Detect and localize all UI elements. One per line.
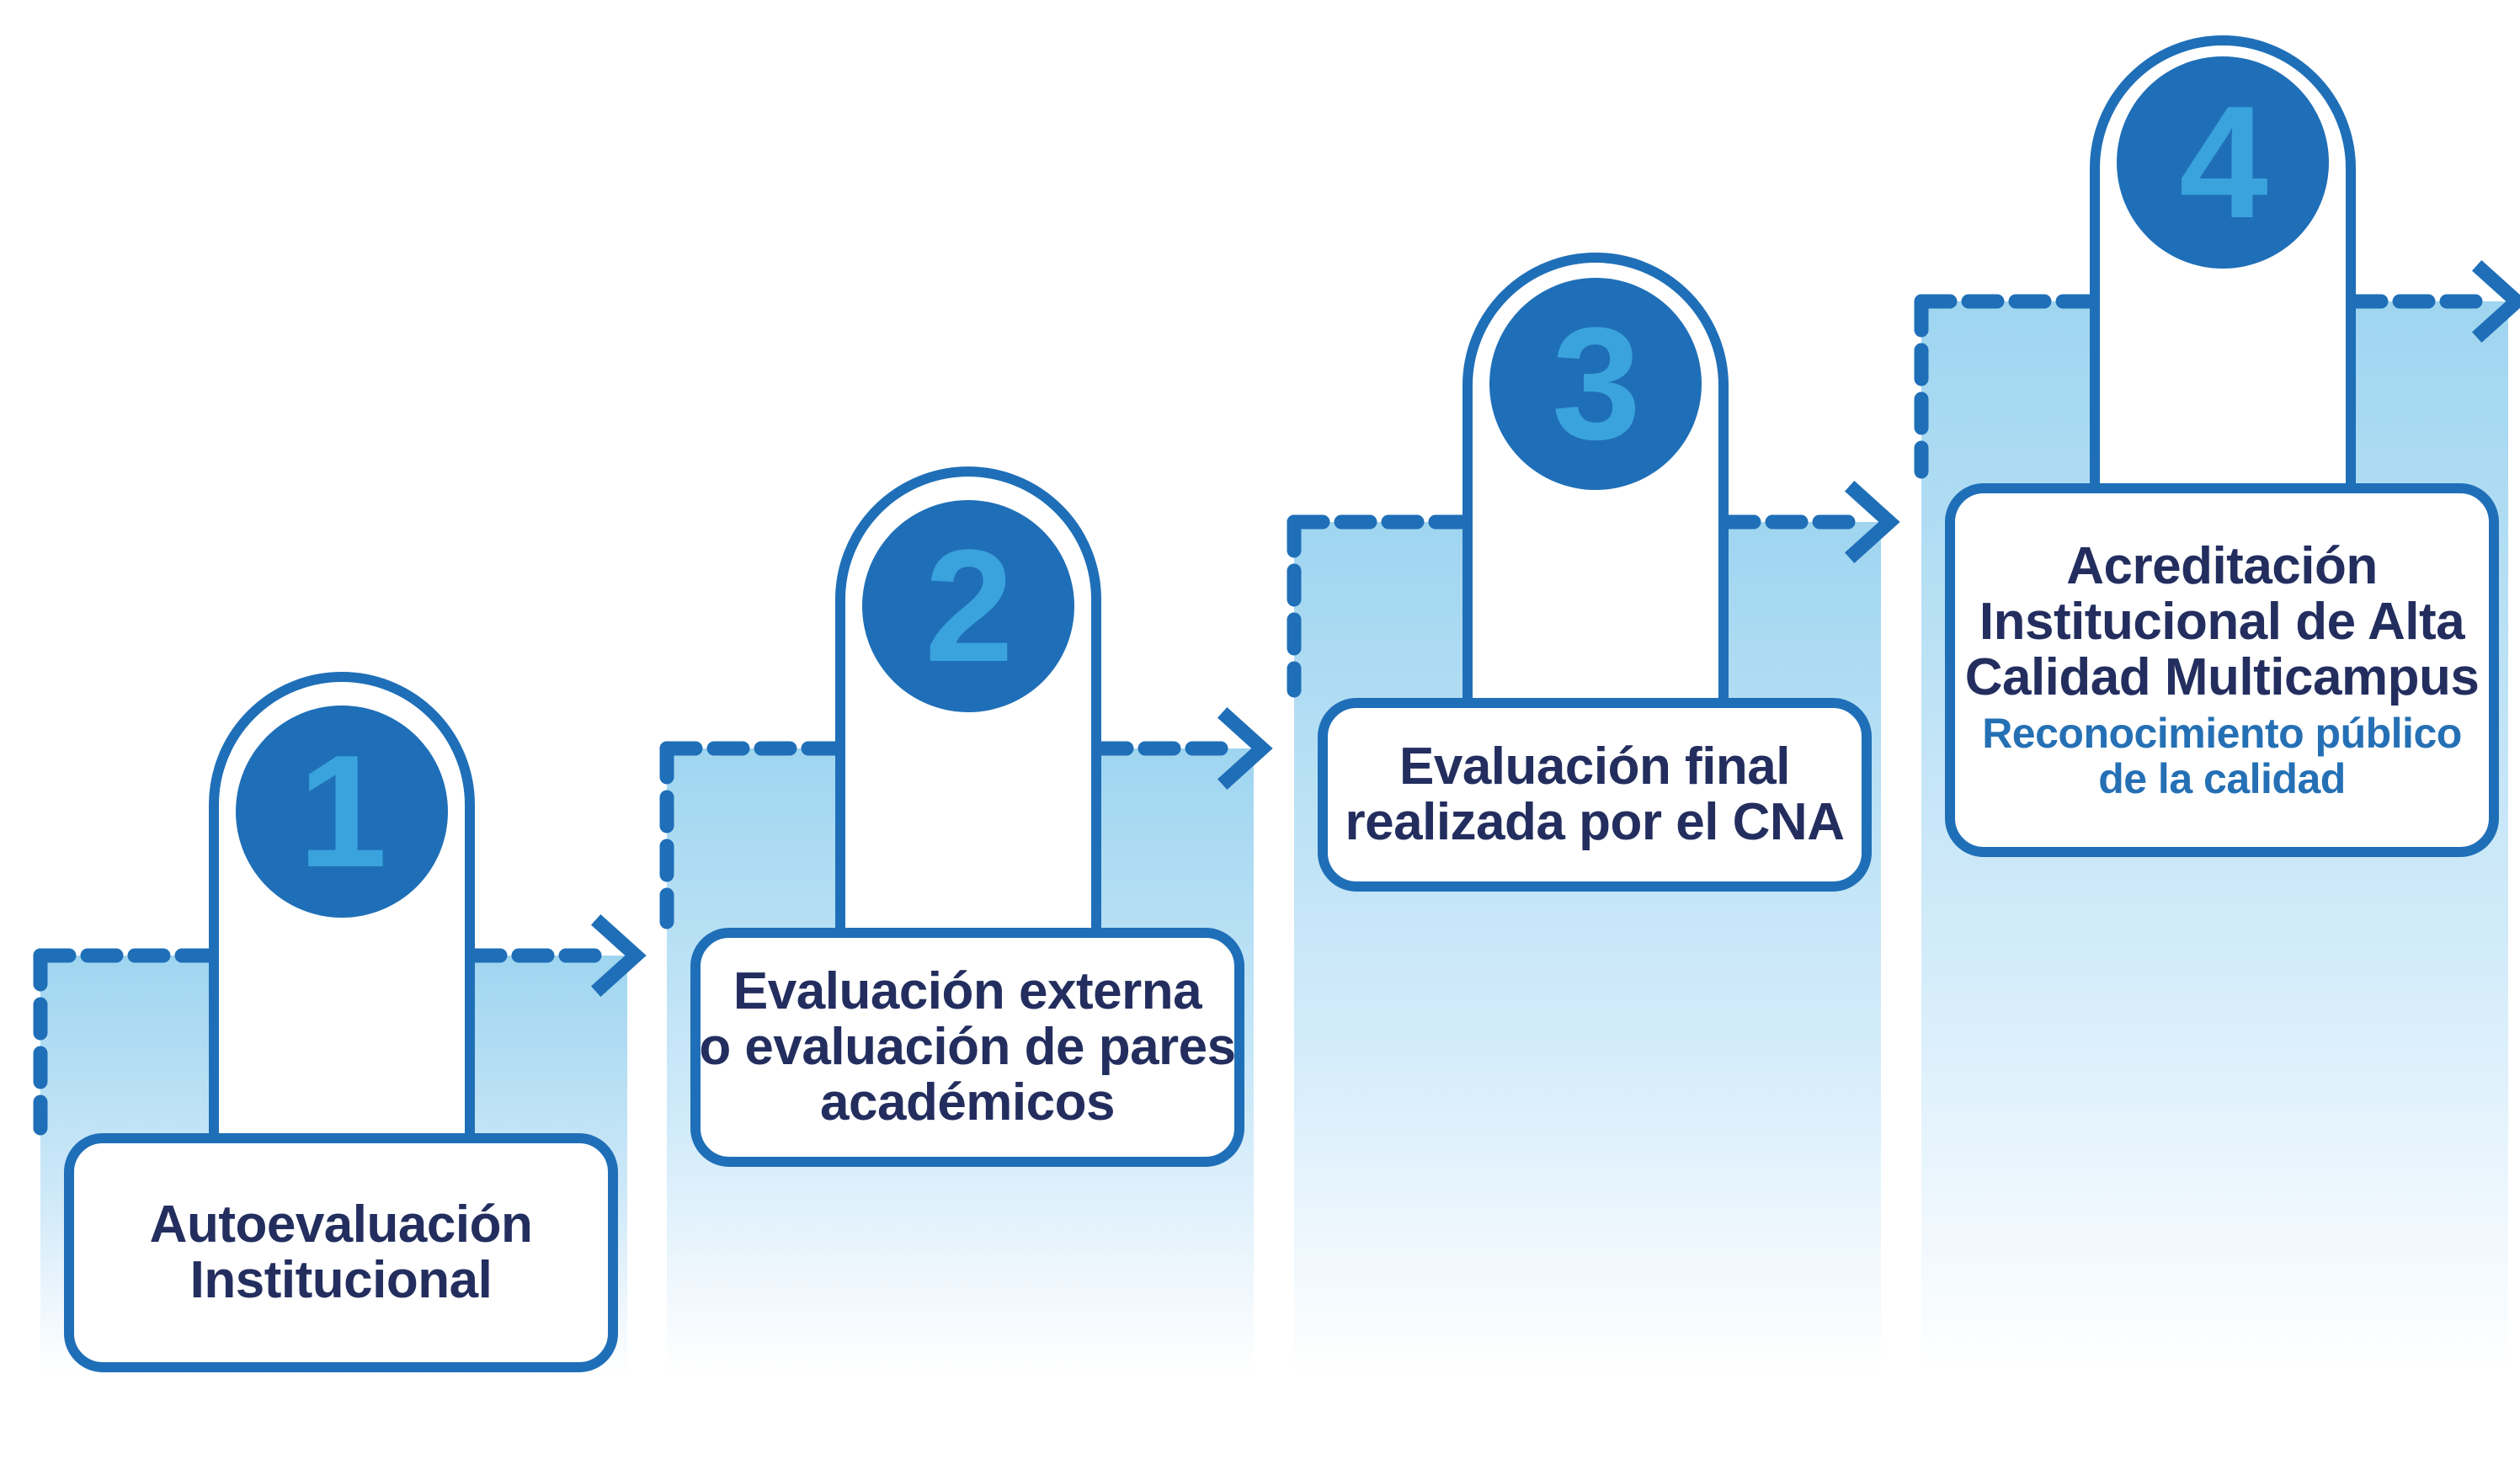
diagram-canvas bbox=[0, 0, 2520, 1459]
step-1-group[interactable] bbox=[40, 677, 636, 1376]
step-3-group[interactable] bbox=[1294, 258, 1889, 1376]
step-4-badge-circle[interactable] bbox=[2117, 56, 2329, 269]
step-4-group[interactable] bbox=[1921, 40, 2517, 1376]
step-2-group[interactable] bbox=[667, 471, 1262, 1376]
step-1-card[interactable] bbox=[69, 1138, 613, 1367]
step-3-card[interactable] bbox=[1323, 703, 1867, 887]
step-2-card[interactable] bbox=[695, 933, 1239, 1162]
step-2-badge-circle[interactable] bbox=[862, 500, 1074, 712]
step-4-card[interactable] bbox=[1950, 488, 2494, 852]
process-diagram: 1 2 3 4 Autoevaluación Institucional Eva… bbox=[0, 0, 2520, 1459]
step-1-badge-circle[interactable] bbox=[236, 706, 448, 918]
step-3-badge-circle[interactable] bbox=[1489, 278, 1702, 490]
